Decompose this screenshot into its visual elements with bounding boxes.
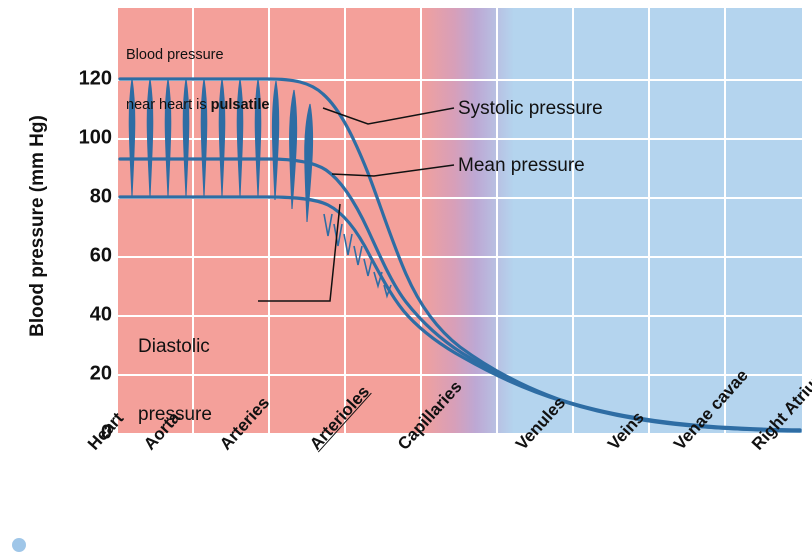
x-axis-tick-labels: Heart Aorta Arteries Arterioles Capillar… [0,0,812,559]
corner-decoration-dot [12,538,26,552]
x-tick-right-atrium: Right Atrium [748,365,812,454]
x-tick-arterioles: Arterioles [306,382,374,454]
x-tick-capillaries: Capillaries [394,377,466,454]
x-tick-venae-cavae: Venae cavae [670,366,753,455]
x-tick-arteries: Arteries [216,393,274,454]
x-tick-heart: Heart [84,409,128,455]
blood-pressure-chart: Blood pressure (mm Hg) 0 20 40 60 80 100… [0,0,812,559]
x-tick-venules: Venules [512,393,570,454]
x-tick-veins: Veins [604,408,649,454]
x-tick-aorta: Aorta [140,408,185,454]
